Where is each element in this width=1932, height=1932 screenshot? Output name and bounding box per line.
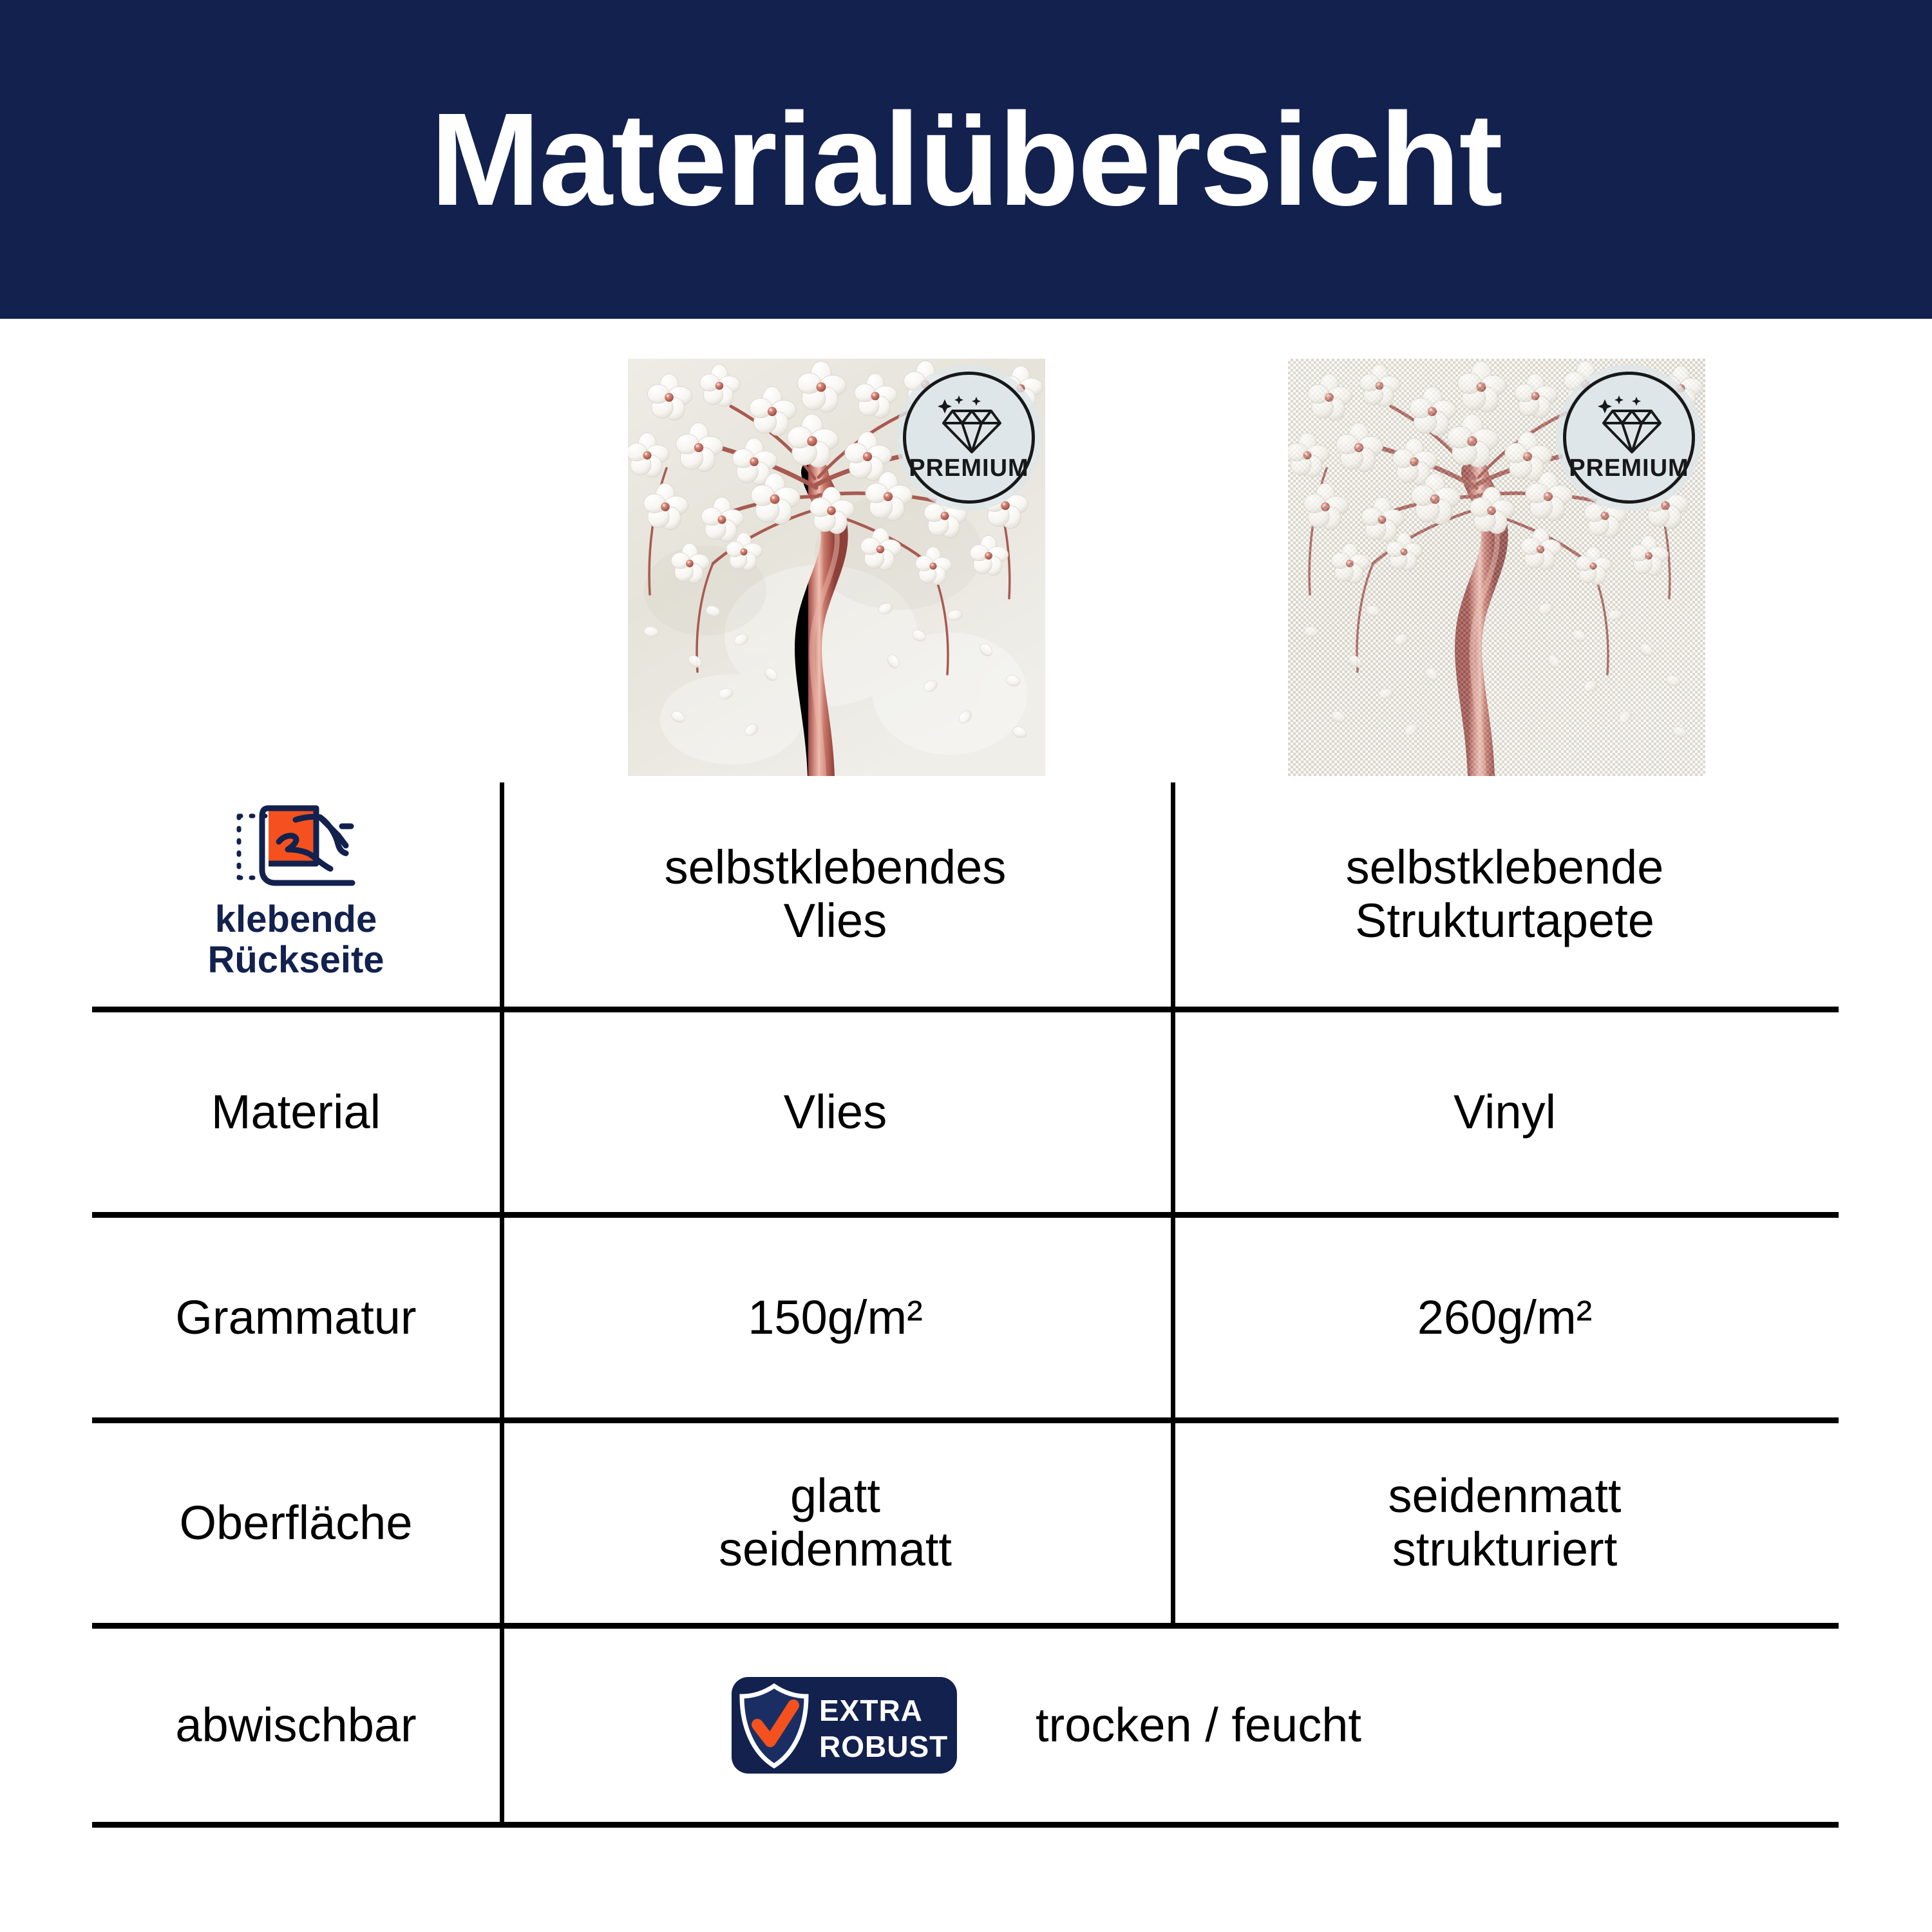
row-label-material: Material xyxy=(92,1012,500,1212)
product-image-strip: PREMIUM xyxy=(0,319,1932,782)
extra-robust-line1: EXTRA xyxy=(819,1694,923,1727)
cell-oberflaeche-col1: glatt seidenmatt xyxy=(500,1423,1171,1623)
table-row-oberflaeche: Oberfläche glatt seidenmatt seidenmatt s… xyxy=(92,1423,1839,1629)
premium-badge-label: PREMIUM xyxy=(909,456,1028,480)
oberflaeche-col1-line2: seidenmatt xyxy=(719,1522,952,1576)
page-header: Materialübersicht xyxy=(0,0,1932,319)
oberflaeche-col2-line1: seidenmatt xyxy=(1388,1469,1622,1522)
table-row-grammatur: Grammatur 150g/m² 260g/m² xyxy=(92,1218,1839,1423)
extra-robust-line2: ROBUST xyxy=(819,1730,948,1763)
row-label-grammatur: Grammatur xyxy=(92,1218,500,1417)
column-divider-2 xyxy=(1171,1012,1175,1212)
cell-grammatur-col2: 260g/m² xyxy=(1171,1218,1839,1417)
table-row-abwischbar: abwischbar EXTRA ROBUST trocken / feucht xyxy=(92,1629,1839,1828)
adhesive-backing-label-line2: Rückseite xyxy=(207,939,384,981)
product-name-col2-line2: Strukturtapete xyxy=(1355,894,1654,947)
adhesive-backing-cell: klebende Rückseite xyxy=(92,782,500,1007)
row-label-oberflaeche: Oberfläche xyxy=(92,1423,500,1623)
adhesive-backing-label-line1: klebende xyxy=(215,898,377,940)
cell-product-name-col2: selbstklebende Strukturtapete xyxy=(1171,782,1839,1007)
cell-grammatur-col1: 150g/m² xyxy=(500,1218,1171,1417)
column-divider-1 xyxy=(500,1218,504,1417)
adhesive-backing-label: klebende Rückseite xyxy=(207,900,384,980)
premium-badge: PREMIUM xyxy=(903,372,1035,504)
diamond-icon xyxy=(1596,395,1663,453)
diamond-icon xyxy=(936,395,1003,453)
cell-material-col1: Vlies xyxy=(500,1012,1171,1212)
column-divider-1 xyxy=(500,1423,504,1623)
column-divider-2 xyxy=(1171,1423,1175,1623)
product-name-col1-line2: Vlies xyxy=(784,894,887,947)
product-image-strukturtapete: PREMIUM xyxy=(1288,359,1705,776)
cell-abwischbar-value: EXTRA ROBUST trocken / feucht xyxy=(500,1629,1839,1822)
column-divider-1 xyxy=(500,782,504,1007)
table-row-product-names: klebende Rückseite selbstklebendes Vlies… xyxy=(92,782,1839,1012)
column-divider-2 xyxy=(1171,782,1175,1007)
premium-badge-label: PREMIUM xyxy=(1569,456,1689,480)
cell-product-name-col1: selbstklebendes Vlies xyxy=(500,782,1171,1007)
page-title: Materialübersicht xyxy=(430,93,1501,225)
extra-robust-badge: EXTRA ROBUST xyxy=(732,1677,957,1774)
row-label-abwischbar: abwischbar xyxy=(92,1629,500,1822)
product-image-vlies: PREMIUM xyxy=(628,359,1045,776)
product-name-col1-line1: selbstklebendes xyxy=(665,840,1007,894)
cell-oberflaeche-col2: seidenmatt strukturiert xyxy=(1171,1423,1839,1623)
column-divider-1 xyxy=(500,1629,504,1822)
material-spec-table: klebende Rückseite selbstklebendes Vlies… xyxy=(92,782,1839,1828)
product-name-col2-line1: selbstklebende xyxy=(1346,840,1664,894)
table-row-material: Material Vlies Vinyl xyxy=(92,1012,1839,1218)
column-divider-1 xyxy=(500,1012,504,1212)
cell-material-col2: Vinyl xyxy=(1171,1012,1839,1212)
oberflaeche-col1-line1: glatt xyxy=(790,1469,880,1522)
premium-badge: PREMIUM xyxy=(1563,372,1695,504)
column-divider-2 xyxy=(1171,1218,1175,1417)
peel-adhesive-backing-icon xyxy=(229,798,364,893)
abwischbar-value-text: trocken / feucht xyxy=(1036,1699,1361,1752)
oberflaeche-col2-line2: strukturiert xyxy=(1392,1522,1618,1576)
